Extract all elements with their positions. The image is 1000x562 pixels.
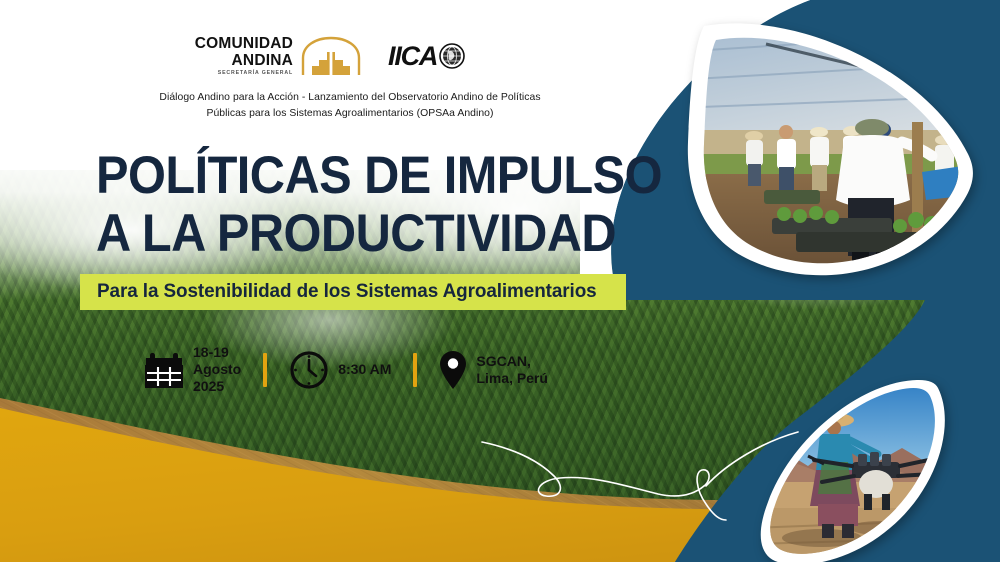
event-location: SGCAN, Lima, Perú bbox=[439, 350, 548, 390]
event-location-text: SGCAN, Lima, Perú bbox=[476, 353, 548, 387]
andean-arch-icon bbox=[300, 36, 362, 76]
detail-divider-2 bbox=[413, 353, 417, 387]
can-line-2: ANDINA bbox=[232, 53, 293, 69]
logo-row: COMUNIDAD ANDINA SECRETARÍA GENERAL IICA bbox=[0, 36, 660, 76]
comunidad-andina-wordmark: COMUNIDAD ANDINA SECRETARÍA GENERAL bbox=[195, 36, 293, 76]
leaf-photo-drone bbox=[752, 378, 960, 562]
clock-icon bbox=[289, 350, 329, 390]
leaf-photo-greenhouse bbox=[676, 4, 988, 304]
event-time-text: 8:30 AM bbox=[338, 361, 391, 378]
subtitle-banner: Para la Sostenibilidad de los Sistemas A… bbox=[80, 274, 626, 310]
logo-iica: IICA bbox=[388, 41, 465, 72]
iica-wordmark: IICA bbox=[388, 41, 437, 72]
subtitle-text: Para la Sostenibilidad de los Sistemas A… bbox=[97, 280, 597, 303]
title-line-1: POLÍTICAS DE IMPULSO bbox=[96, 148, 648, 203]
detail-divider-1 bbox=[263, 353, 267, 387]
event-date: 18-19 Agosto 2025 bbox=[144, 344, 241, 395]
can-line-1: COMUNIDAD bbox=[195, 36, 293, 52]
can-line-3: SECRETARÍA GENERAL bbox=[218, 71, 293, 76]
main-title: POLÍTICAS DE IMPULSO A LA PRODUCTIVIDAD bbox=[96, 148, 696, 261]
event-description: Diálogo Andino para la Acción - Lanzamie… bbox=[0, 90, 700, 122]
globe-icon bbox=[439, 43, 465, 69]
title-line-2: A LA PRODUCTIVIDAD bbox=[96, 206, 648, 261]
event-poster: COMUNIDAD ANDINA SECRETARÍA GENERAL IICA bbox=[0, 0, 1000, 562]
event-description-line-1: Diálogo Andino para la Acción - Lanzamie… bbox=[0, 90, 700, 106]
event-date-text: 18-19 Agosto 2025 bbox=[193, 344, 241, 395]
event-time: 8:30 AM bbox=[289, 350, 391, 390]
event-description-line-2: Públicas para los Sistemas Agroalimentar… bbox=[0, 106, 700, 122]
calendar-icon bbox=[144, 351, 184, 389]
logo-comunidad-andina: COMUNIDAD ANDINA SECRETARÍA GENERAL bbox=[195, 36, 362, 76]
event-details-row: 18-19 Agosto 2025 8:30 AM bbox=[144, 344, 548, 395]
map-pin-icon bbox=[439, 350, 467, 390]
